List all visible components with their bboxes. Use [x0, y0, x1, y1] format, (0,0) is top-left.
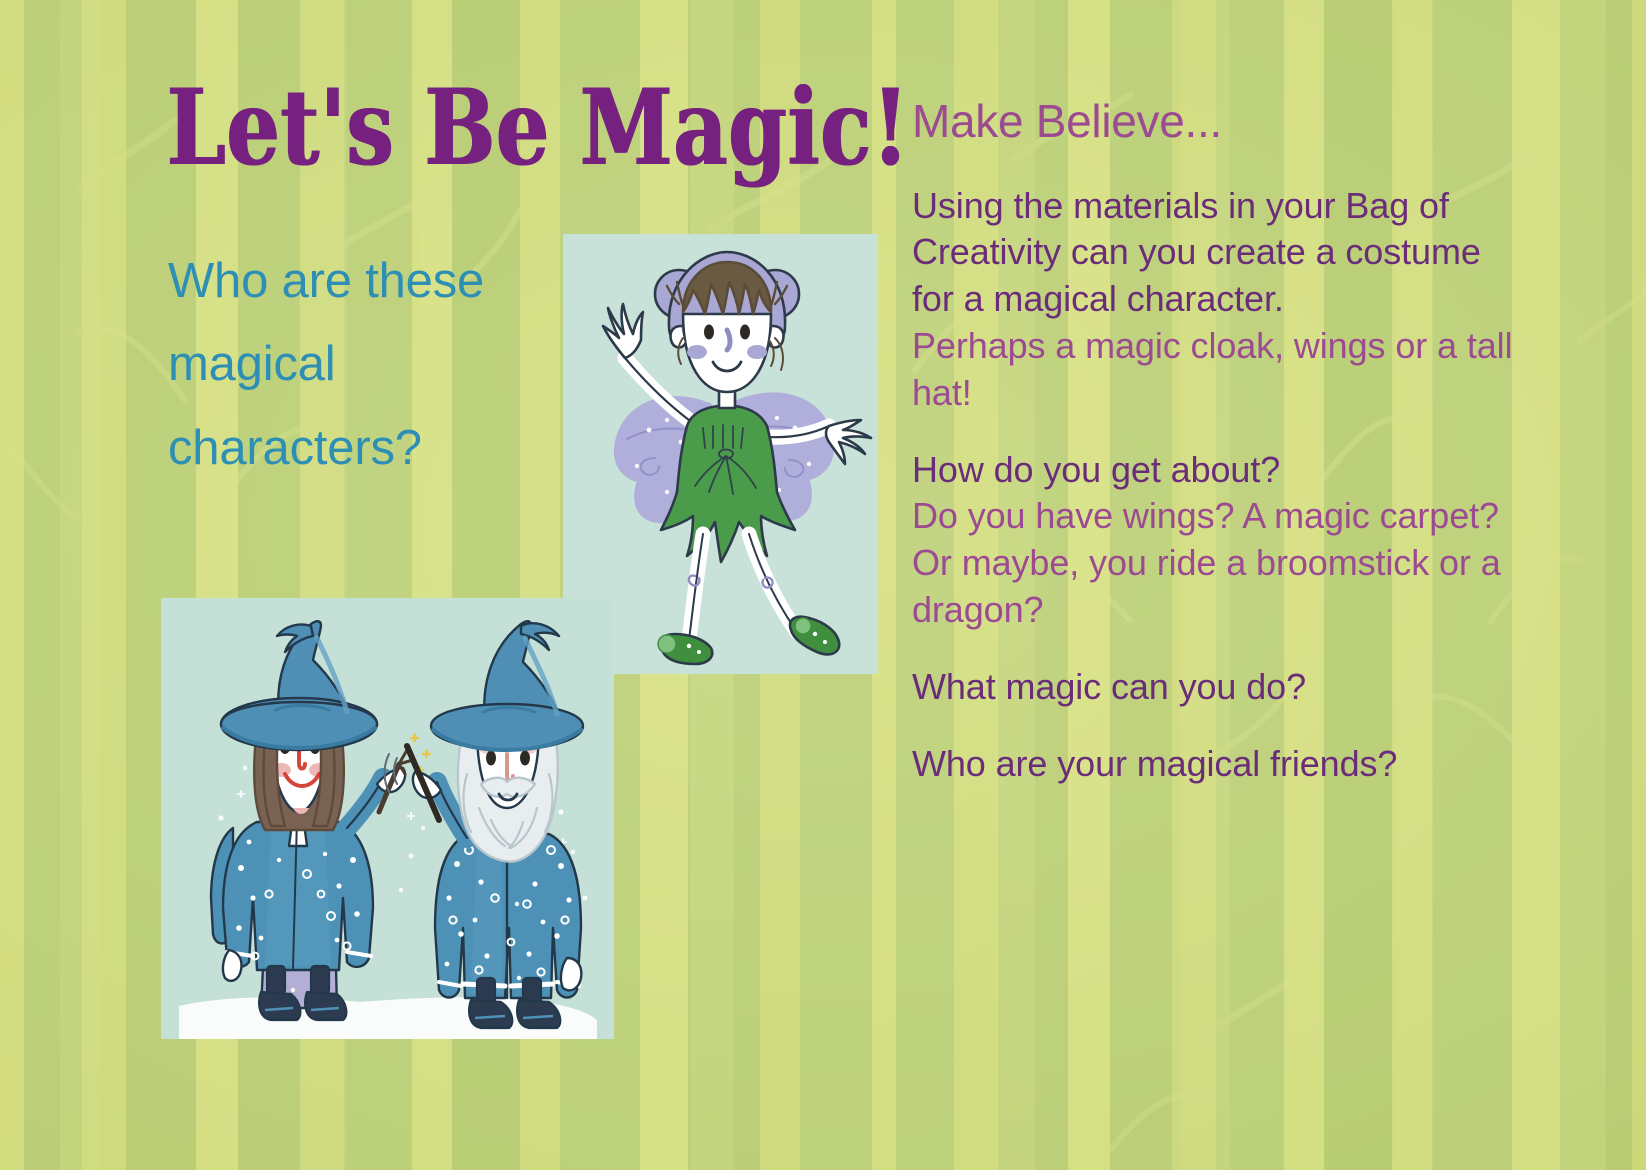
text-block-3: What magic can you do?	[912, 664, 1532, 711]
block-2-question: How do you get about?	[912, 447, 1532, 494]
block-4-question: Who are your magical friends?	[912, 741, 1532, 788]
wizards-illustration-panel	[161, 598, 614, 1039]
block-1-question: Using the materials in your Bag of Creat…	[912, 183, 1532, 323]
poster-canvas: Let's Be Magic! Who are these magical ch…	[0, 0, 1646, 1170]
text-block-1: Using the materials in your Bag of Creat…	[912, 183, 1532, 417]
make-believe-heading: Make Believe...	[912, 96, 1532, 147]
subtitle-question: Who are these magical characters?	[168, 240, 568, 490]
block-2-answer: Do you have wings? A magic carpet? Or ma…	[912, 493, 1532, 633]
text-block-2: How do you get about? Do you have wings?…	[912, 447, 1532, 634]
right-text-column: Make Believe... Using the materials in y…	[912, 96, 1532, 817]
block-3-question: What magic can you do?	[912, 664, 1532, 711]
block-1-answer: Perhaps a magic cloak, wings or a tall h…	[912, 323, 1532, 417]
page-title: Let's Be Magic!	[166, 76, 909, 181]
text-block-4: Who are your magical friends?	[912, 741, 1532, 788]
wizards-illustration	[161, 598, 614, 1039]
